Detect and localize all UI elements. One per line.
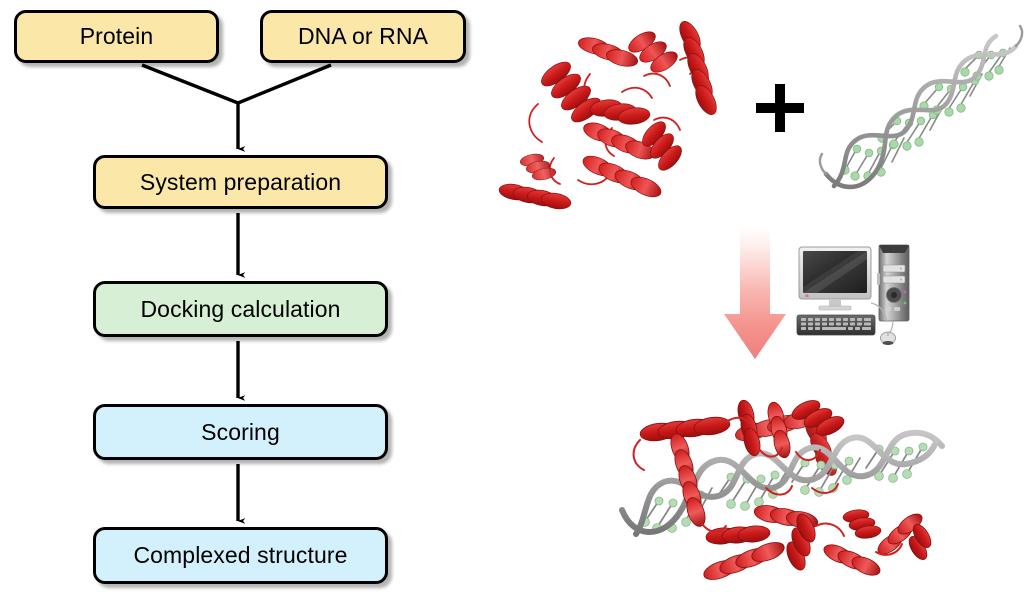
dna-double-helix bbox=[812, 18, 1027, 203]
helix-group-bottom-coil bbox=[519, 152, 557, 182]
helix-group-top-center bbox=[577, 35, 640, 69]
flow-box-system-preparation-label: System preparation bbox=[140, 171, 341, 194]
flow-box-protein[interactable]: Protein bbox=[14, 10, 219, 63]
flow-box-docking-calculation-label: Docking calculation bbox=[140, 298, 340, 321]
connector-merge-protein-dna bbox=[142, 65, 331, 149]
flow-box-complexed-structure-label: Complexed structure bbox=[133, 544, 347, 567]
helix-group-center bbox=[581, 98, 657, 163]
desktop-computer bbox=[793, 243, 915, 347]
flow-box-scoring[interactable]: Scoring bbox=[93, 404, 388, 460]
helix-group-right-upper bbox=[625, 28, 680, 77]
protein-ribbon-structure bbox=[494, 8, 744, 223]
helix-group-right bbox=[675, 18, 720, 118]
dna-terminal-tails bbox=[820, 26, 1022, 174]
helix-group-lower-right bbox=[580, 152, 664, 201]
flow-box-scoring-label: Scoring bbox=[201, 421, 280, 444]
diagram-canvas: Protein DNA or RNA System preparation Do… bbox=[0, 0, 1029, 604]
flow-box-dna-or-rna[interactable]: DNA or RNA bbox=[260, 10, 466, 63]
process-down-arrow bbox=[720, 226, 790, 362]
computer-keyboard bbox=[797, 315, 875, 335]
computer-monitor bbox=[799, 247, 871, 310]
helix-group-bottom-left bbox=[498, 182, 572, 211]
flow-box-dna-or-rna-label: DNA or RNA bbox=[298, 25, 428, 48]
flow-box-system-preparation[interactable]: System preparation bbox=[93, 155, 388, 209]
complex-protein-front bbox=[634, 397, 935, 584]
flow-box-docking-calculation[interactable]: Docking calculation bbox=[93, 281, 388, 337]
plus-sign bbox=[752, 80, 808, 136]
computer-mouse bbox=[881, 332, 896, 345]
helix-group-upper-left bbox=[538, 58, 605, 127]
protein-dna-complex bbox=[600, 392, 1020, 602]
flow-box-complexed-structure[interactable]: Complexed structure bbox=[93, 527, 388, 584]
flow-box-protein-label: Protein bbox=[80, 25, 154, 48]
